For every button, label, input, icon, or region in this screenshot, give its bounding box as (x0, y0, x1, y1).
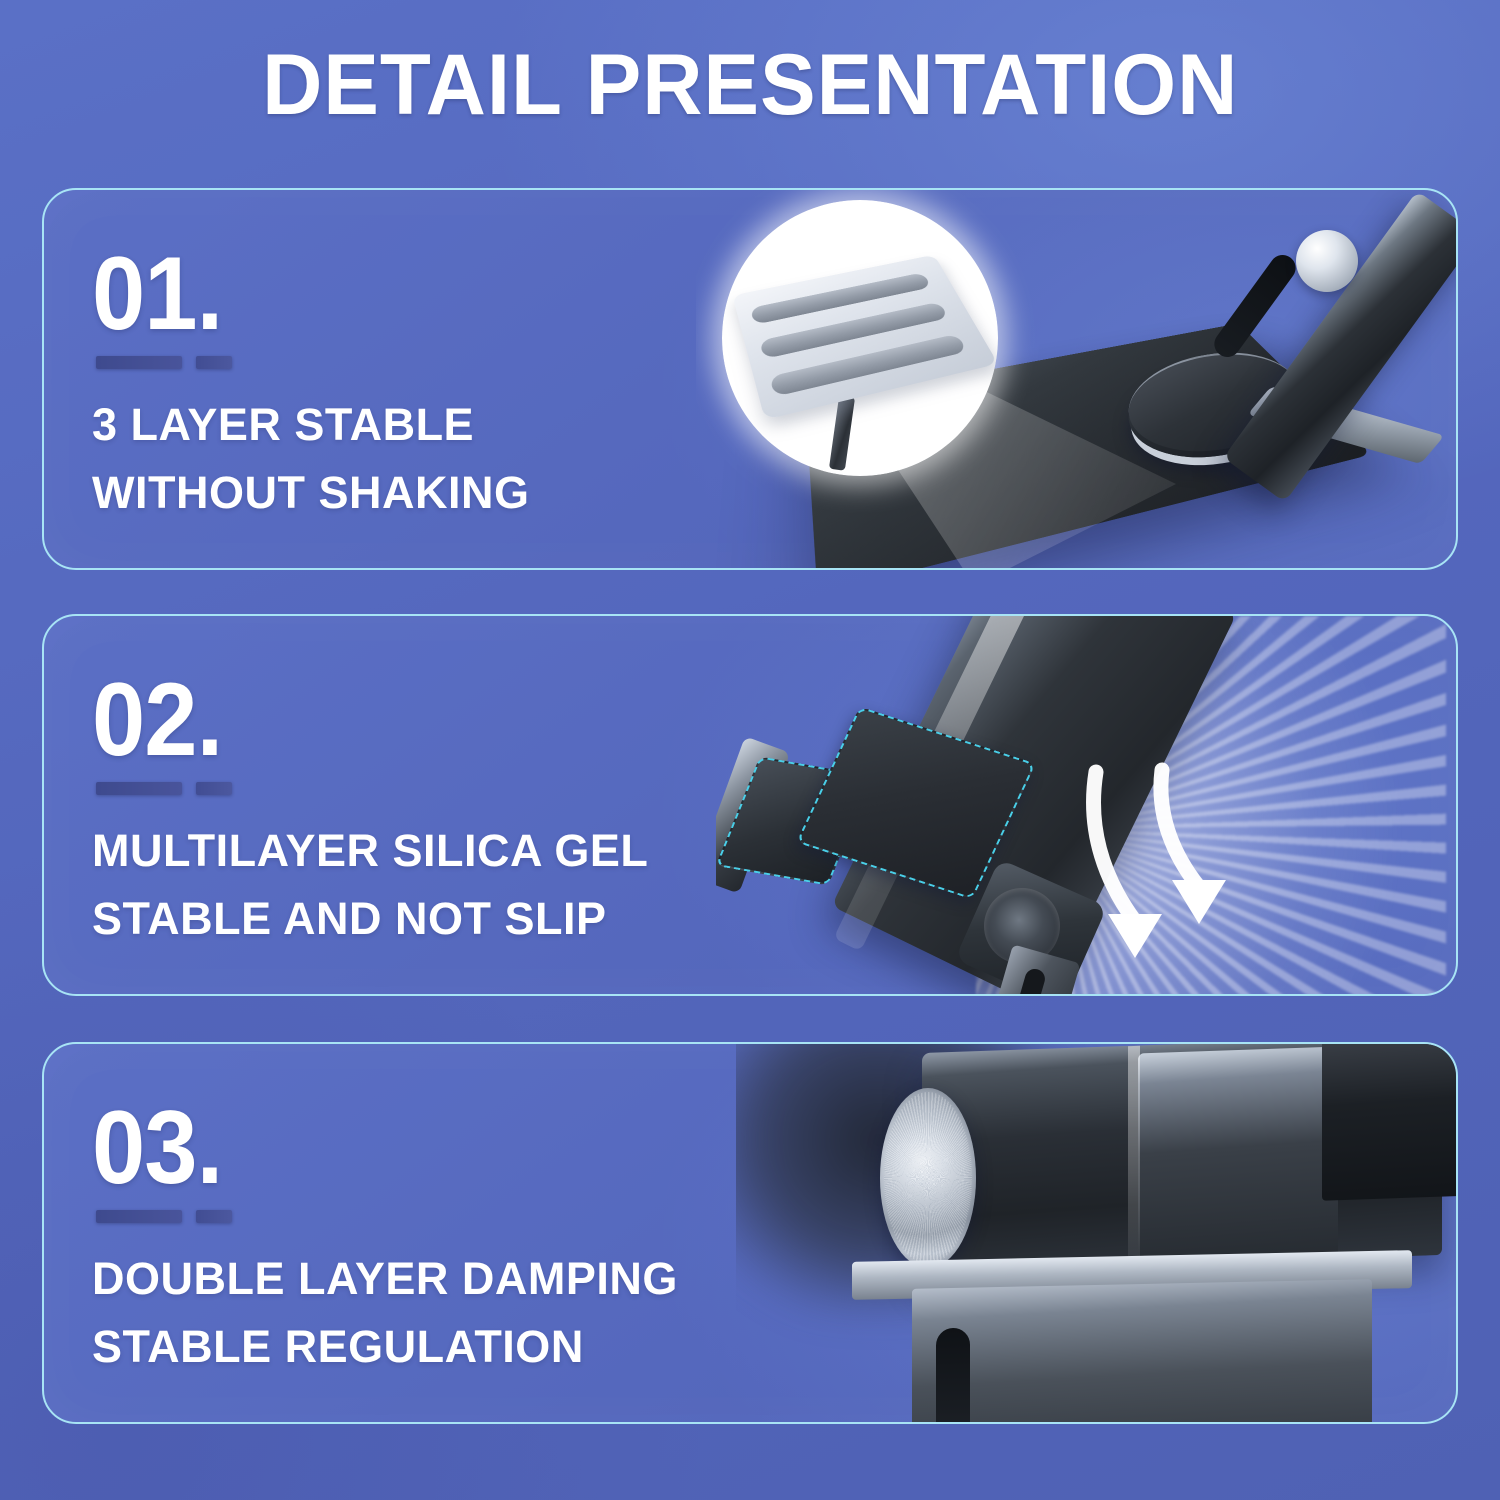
hinge-housing-rear (1322, 1044, 1456, 1201)
card-3-text: 03. DOUBLE LAYER DAMPING STABLE REGULATI… (92, 1102, 678, 1381)
brushed-texture (884, 1092, 972, 1264)
magnifier-circle (722, 200, 998, 476)
card-number: 03. (92, 1102, 631, 1194)
card-headline-line1: DOUBLE LAYER DAMPING (92, 1245, 678, 1313)
dash-short (196, 356, 232, 369)
plate-stem (829, 395, 855, 471)
dash-long (96, 1210, 182, 1223)
feature-card-2: 02. MULTILAYER SILICA GEL STABLE AND NOT… (42, 614, 1458, 996)
page-title: DETAIL PRESENTATION (262, 42, 1238, 128)
support-arm (912, 1279, 1372, 1422)
hinge-housing-mid (1138, 1047, 1338, 1266)
dash-long (96, 782, 182, 795)
dash-short (196, 1210, 232, 1223)
card-headline-line2: STABLE REGULATION (92, 1313, 678, 1381)
rotation-arrow-icon (1150, 762, 1260, 932)
product-image-3 (736, 1044, 1456, 1422)
hinge-pivot-icon (1296, 230, 1358, 292)
silicone-plate (732, 255, 998, 420)
arm-slot (936, 1328, 970, 1422)
divider (96, 356, 529, 369)
divider (96, 782, 648, 795)
card-number: 01. (92, 248, 494, 340)
housing-seam (1128, 1046, 1140, 1260)
header: DETAIL PRESENTATION (0, 42, 1500, 128)
card-2-text: 02. MULTILAYER SILICA GEL STABLE AND NOT… (92, 674, 648, 953)
infographic-page: DETAIL PRESENTATION 01. (0, 0, 1500, 1500)
card-headline-line2: STABLE AND NOT SLIP (92, 885, 648, 953)
divider (96, 1210, 678, 1223)
dash-short (196, 782, 232, 795)
dash-long (96, 356, 182, 369)
card-number: 02. (92, 674, 604, 766)
product-image-1 (696, 190, 1456, 568)
card-headline-line1: MULTILAYER SILICA GEL (92, 817, 648, 885)
product-image-2 (716, 616, 1456, 994)
feature-card-1: 01. 3 LAYER STABLE WITHOUT SHAKING (42, 188, 1458, 570)
feature-card-3: 03. DOUBLE LAYER DAMPING STABLE REGULATI… (42, 1042, 1458, 1424)
card-1-text: 01. 3 LAYER STABLE WITHOUT SHAKING (92, 248, 529, 527)
card-headline-line1: 3 LAYER STABLE (92, 391, 529, 459)
card-headline-line2: WITHOUT SHAKING (92, 459, 529, 527)
